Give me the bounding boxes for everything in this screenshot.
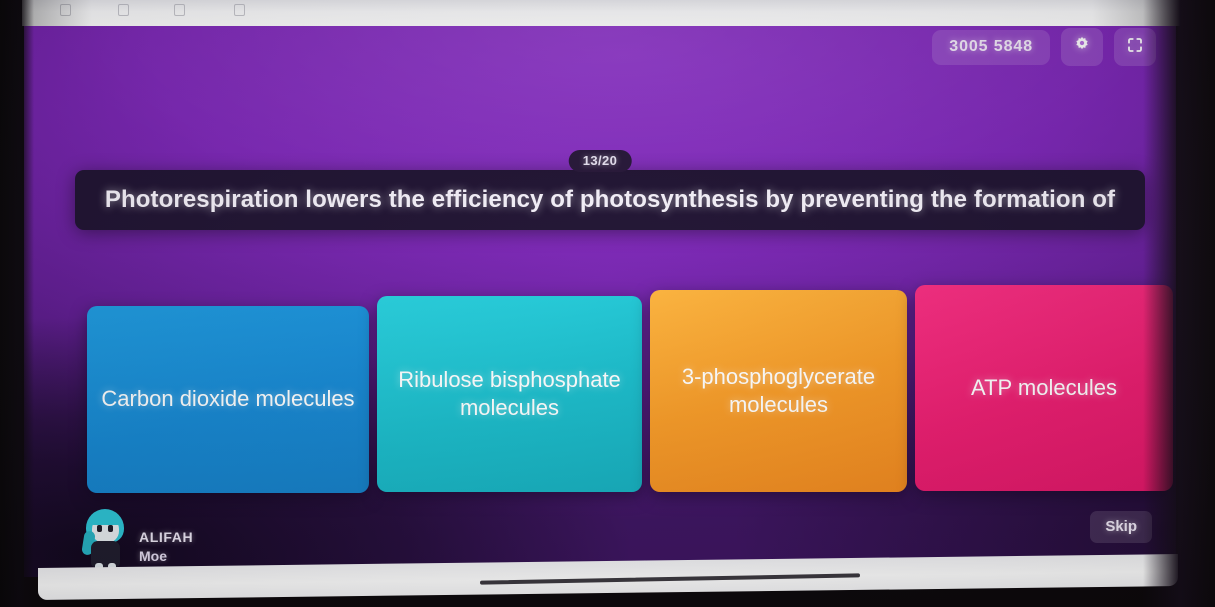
- browser-icon-3: [174, 4, 185, 16]
- question-counter: 13/20: [569, 150, 632, 172]
- question-banner: Photorespiration lowers the efficiency o…: [75, 170, 1145, 230]
- answer-label: Ribulose bisphosphate molecules: [391, 366, 628, 422]
- answer-label: ATP molecules: [971, 374, 1117, 402]
- quiz-screen: 3005 5848: [24, 22, 1176, 577]
- skip-button[interactable]: Skip: [1090, 511, 1152, 543]
- answer-option-4[interactable]: ATP molecules: [915, 285, 1173, 491]
- expand-brackets-icon: [1125, 36, 1145, 59]
- avatar-fringe-icon: [90, 513, 121, 525]
- game-pin: 3005 5848: [932, 30, 1050, 65]
- settings-button[interactable]: [1061, 28, 1103, 66]
- answer-option-3[interactable]: 3-phosphoglycerate molecules: [650, 290, 907, 492]
- answer-label: 3-phosphoglycerate molecules: [664, 363, 893, 419]
- gear-icon: [1072, 35, 1092, 60]
- answer-option-2[interactable]: Ribulose bisphosphate molecules: [377, 296, 642, 492]
- fullscreen-button[interactable]: [1114, 28, 1156, 66]
- player-name: ALIFAH: [139, 529, 193, 545]
- browser-icon-2: [118, 4, 129, 16]
- browser-icon-4: [234, 4, 245, 16]
- question-text: Photorespiration lowers the efficiency o…: [105, 186, 1115, 215]
- answer-options: Carbon dioxide molecules Ribulose bispho…: [62, 284, 1162, 502]
- browser-toolbar: [22, 0, 1185, 26]
- browser-icon-1: [60, 4, 71, 16]
- photo-frame: 3005 5848: [0, 0, 1215, 607]
- player-name-block: ALIFAH Moe: [139, 529, 193, 571]
- answer-option-1[interactable]: Carbon dioxide molecules: [87, 306, 369, 493]
- player-score: Moe: [139, 548, 193, 564]
- avatar-eye-left-icon: [97, 525, 102, 532]
- top-bar: 3005 5848: [932, 28, 1156, 66]
- answer-label: Carbon dioxide molecules: [101, 385, 354, 413]
- avatar: [82, 505, 129, 571]
- player-info: ALIFAH Moe: [82, 505, 193, 571]
- avatar-eye-right-icon: [108, 525, 113, 532]
